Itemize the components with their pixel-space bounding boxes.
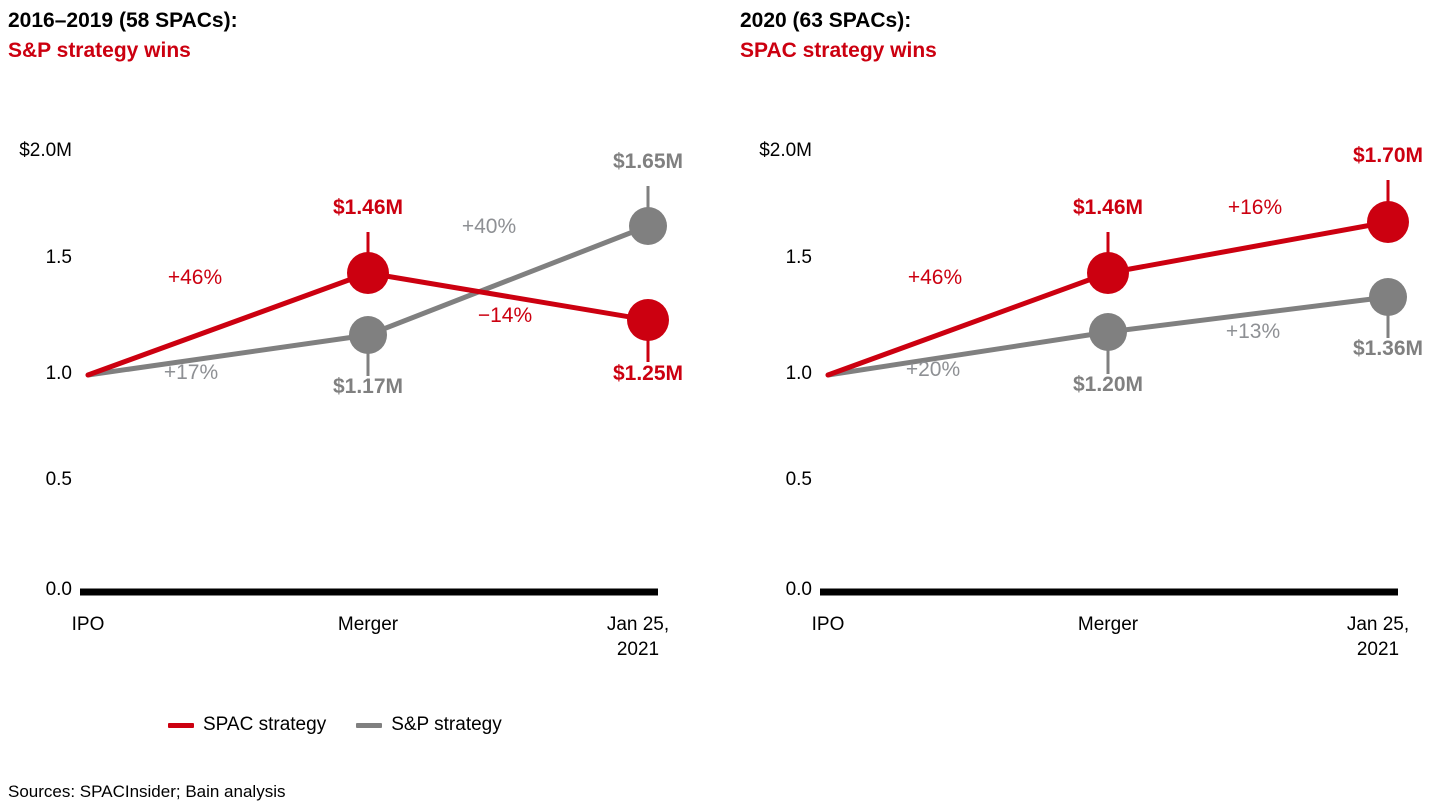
marker-spac-merger-left [347,252,389,294]
marker-sp-merger-right [1089,313,1127,351]
datalabel-spac-merger-right: $1.46M [1008,196,1208,220]
ytick-left-0-0: 0.0 [0,579,72,601]
pctlabel-sp-first-left: +17% [126,361,256,385]
datalabel-spac-final-left: $1.25M [548,362,748,386]
chart-left: $2.0M 1.5 1.0 0.5 0.0 IPO Merger Jan 25,… [0,0,720,810]
xtick-right-ipo: IPO [778,612,878,637]
ytick-right-2-0m: $2.0M [740,140,812,162]
ytick-left-0-5: 0.5 [0,469,72,491]
ytick-left-1-5: 1.5 [0,247,72,269]
chart-left-plot [0,0,720,810]
source-note: Sources: SPACInsider; Bain analysis [8,782,285,802]
marker-sp-merger-left [349,316,387,354]
pctlabel-spac-first-left: +46% [130,266,260,290]
legend-item-spac-strategy-left[interactable]: SPAC strategy [168,714,326,736]
xtick-right-final: Jan 25, 2021 [1328,612,1428,662]
legend-label-sp-strategy-left: S&P strategy [391,714,502,736]
datalabel-spac-final-right: $1.70M [1288,144,1440,168]
legend-label-spac-strategy-left: SPAC strategy [203,714,326,736]
xtick-left-final-line1: Jan 25, [607,614,669,635]
marker-sp-final-left [629,207,667,245]
legend-swatch-red-icon [168,723,194,728]
ytick-right-0-0: 0.0 [740,579,812,601]
pctlabel-spac-second-right: +16% [1190,196,1320,220]
xtick-right-final-line1: Jan 25, [1347,614,1409,635]
datalabel-sp-merger-left: $1.17M [268,375,468,399]
ytick-left-1-0: 1.0 [0,363,72,385]
chart-right-plot [720,0,1440,810]
xtick-right-merger: Merger [1058,612,1158,637]
ytick-right-1-5: 1.5 [740,247,812,269]
xtick-right-final-line2: 2021 [1357,639,1399,660]
xtick-left-merger: Merger [318,612,418,637]
pctlabel-spac-second-left: −14% [440,304,570,328]
chart-right: $2.0M 1.5 1.0 0.5 0.0 IPO Merger Jan 25,… [720,0,1440,810]
pctlabel-spac-first-right: +46% [870,266,1000,290]
xtick-left-final: Jan 25, 2021 [588,612,688,662]
pctlabel-sp-second-left: +40% [424,215,554,239]
legend-left: SPAC strategy S&P strategy [168,714,502,736]
xtick-left-ipo: IPO [38,612,138,637]
marker-sp-final-right [1369,278,1407,316]
pctlabel-sp-first-right: +20% [868,358,998,382]
datalabel-sp-merger-right: $1.20M [1008,373,1208,397]
marker-spac-final-right [1367,201,1409,243]
ytick-right-1-0: 1.0 [740,363,812,385]
marker-spac-merger-right [1087,252,1129,294]
pctlabel-sp-second-right: +13% [1188,320,1318,344]
datalabel-sp-final-left: $1.65M [548,150,748,174]
ytick-left-2-0m: $2.0M [0,140,72,162]
xtick-left-final-line2: 2021 [617,639,659,660]
ytick-right-0-5: 0.5 [740,469,812,491]
marker-spac-final-left [627,299,669,341]
legend-item-sp-strategy-left[interactable]: S&P strategy [356,714,502,736]
legend-swatch-grey-icon [356,723,382,728]
